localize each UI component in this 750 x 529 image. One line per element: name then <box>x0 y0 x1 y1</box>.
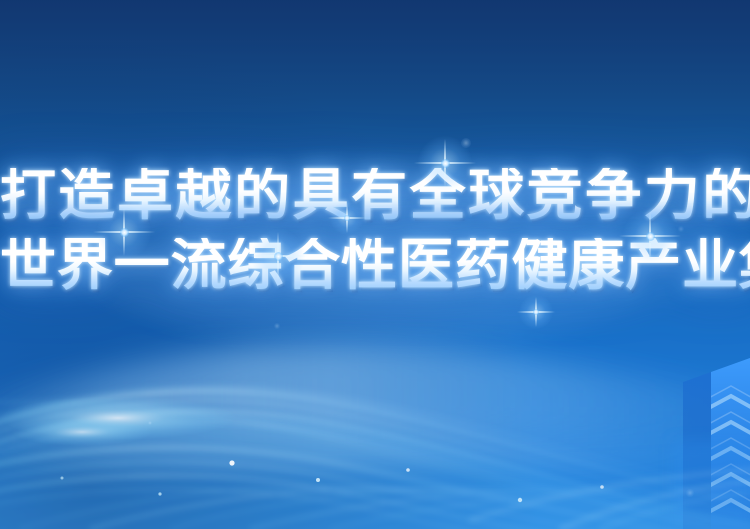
sparkle-glow <box>251 229 305 283</box>
sparkle-core <box>120 228 129 237</box>
sparkle-ray-horizontal <box>93 231 155 233</box>
sparkle-core <box>274 252 283 261</box>
bokeh-speck <box>274 323 280 329</box>
sparkle-ray-horizontal <box>517 311 555 313</box>
sparkle-glow <box>418 136 472 190</box>
sparkle-ray-vertical <box>649 212 651 260</box>
sparkle-ray-vertical <box>346 203 348 233</box>
sparkle-ray-horizontal <box>619 235 681 237</box>
sparkle-core <box>533 309 539 315</box>
sparkle-glow <box>519 295 553 329</box>
sparkle-layer <box>0 0 750 529</box>
bokeh-speck <box>686 489 694 497</box>
sparkle-glow <box>97 205 151 259</box>
sparkle-ray-horizontal <box>414 162 476 164</box>
sparkle-ray-vertical <box>444 139 446 187</box>
sparkle-ray-vertical <box>277 232 279 280</box>
sparkle-core <box>441 159 450 168</box>
sparkle-ray-horizontal <box>328 217 366 219</box>
sparkle-ray-vertical <box>535 297 537 327</box>
bokeh-speck <box>678 226 684 232</box>
sparkle-core <box>344 215 350 221</box>
bokeh-speck <box>461 138 471 148</box>
sparkle-core <box>646 232 655 241</box>
sparkle-ray-horizontal <box>247 255 309 257</box>
sparkle-glow <box>623 209 677 263</box>
banner-canvas: 打造卓越的具有全球竞争力的 世界一流综合性医药健康产业集团 <box>0 0 750 529</box>
sparkle-ray-vertical <box>123 208 125 256</box>
bokeh-speck <box>148 421 152 425</box>
sparkle-glow <box>330 201 364 235</box>
